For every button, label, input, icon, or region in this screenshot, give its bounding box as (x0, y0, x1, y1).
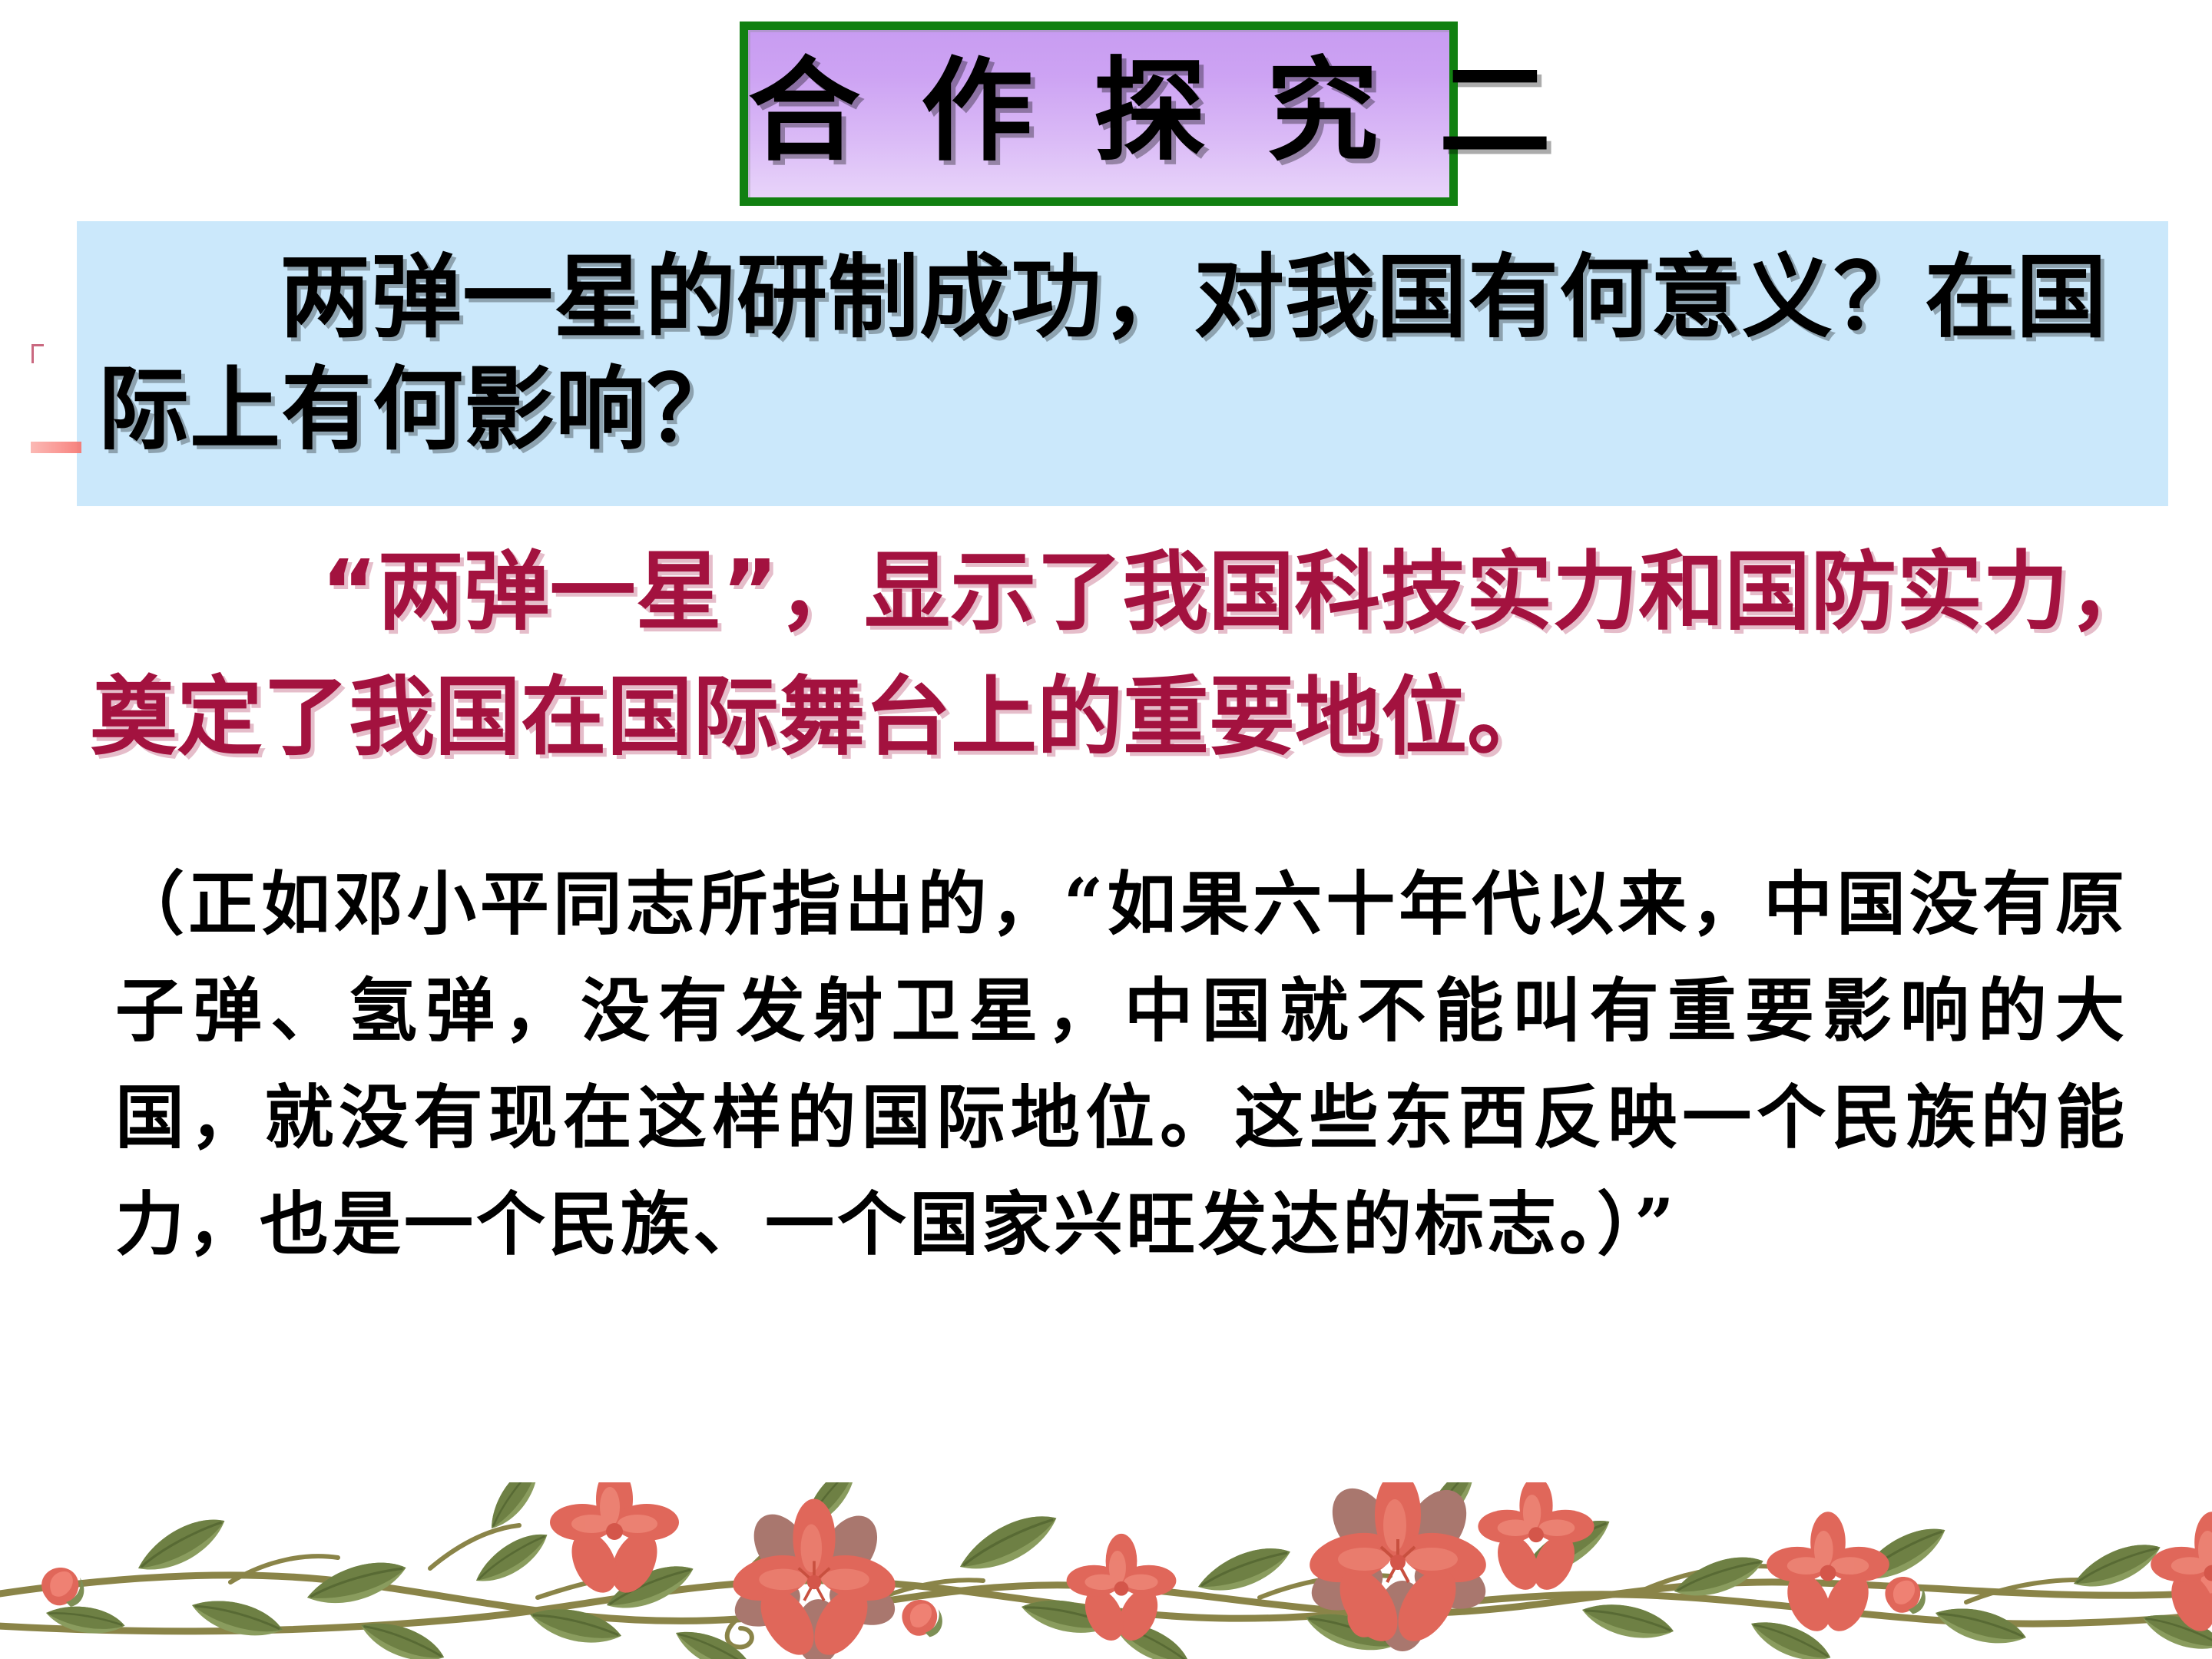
quote-paragraph: （正如邓小平同志所指出的，“如果六十年代以来，中国没有原子弹、氢弹，没有发射卫星… (115, 851, 2128, 1278)
title-banner: 合 作 探 究 二 (740, 22, 1458, 206)
answer-text: “两弹一星”，显示了我国科技实力和国防实力，奠定了我国在国际舞台上的重要地位。 (91, 530, 2204, 780)
question-panel: 两弹一星的研制成功，对我国有何意义？在国际上有何影响？ (77, 221, 2168, 506)
page-title: 合 作 探 究 二 (748, 55, 1449, 167)
pink-bar-artifact (31, 442, 81, 453)
question-text: 两弹一星的研制成功，对我国有何意义？在国际上有何影响？ (98, 241, 2161, 465)
floral-vine-border-icon (0, 1482, 2212, 1659)
corner-mark-artifact (31, 344, 44, 363)
